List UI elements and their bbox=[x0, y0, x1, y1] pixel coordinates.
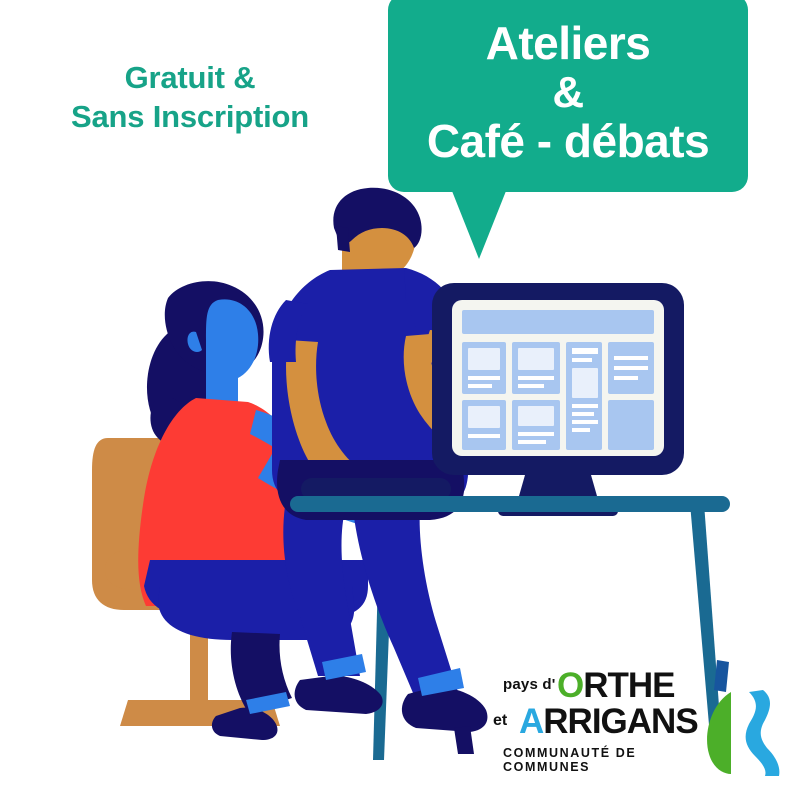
desk-top bbox=[290, 496, 730, 512]
bubble-line-ateliers: Ateliers bbox=[486, 20, 651, 68]
poster-canvas: Gratuit & Sans Inscription Ateliers & Ca… bbox=[0, 0, 800, 798]
logo-orthe-rest: RTHE bbox=[583, 666, 674, 705]
logo-arrigans-rest: RRIGANS bbox=[543, 702, 697, 741]
logo-arrigans-text: ARRIGANS bbox=[519, 702, 698, 742]
logo-orthe-o-green: O bbox=[557, 666, 583, 705]
free-no-registration-notice: Gratuit & Sans Inscription bbox=[40, 58, 340, 136]
bubble-line-ampersand: & bbox=[552, 70, 583, 116]
bubble-line-cafe-debats: Café - débats bbox=[427, 118, 709, 166]
logo-mark-navy-bar bbox=[714, 660, 729, 692]
speech-bubble: Ateliers & Café - débats bbox=[388, 0, 748, 192]
screen-wireframe-content bbox=[462, 310, 654, 450]
logo-mark-green-leaf bbox=[707, 692, 731, 774]
logo-pays-d-text: pays d' bbox=[503, 676, 556, 693]
logo-wordmark: pays d' ORTHE et ARRIGANS COMMUNAUTÉ DE … bbox=[497, 668, 693, 778]
computer-monitor bbox=[432, 283, 684, 516]
logo-et-text: et bbox=[493, 712, 507, 730]
speech-bubble-tail bbox=[452, 191, 506, 259]
logo-pays-dorthe-et-arrigans[interactable]: pays d' ORTHE et ARRIGANS COMMUNAUTÉ DE … bbox=[497, 668, 787, 778]
logo-mark-leaf-river-icon bbox=[693, 658, 787, 778]
logo-orthe-text: ORTHE bbox=[557, 666, 675, 706]
logo-subtitle: COMMUNAUTÉ DE COMMUNES bbox=[503, 746, 693, 774]
logo-mark-blue-river bbox=[746, 690, 780, 776]
logo-arrigans-a-blue: A bbox=[519, 702, 543, 741]
